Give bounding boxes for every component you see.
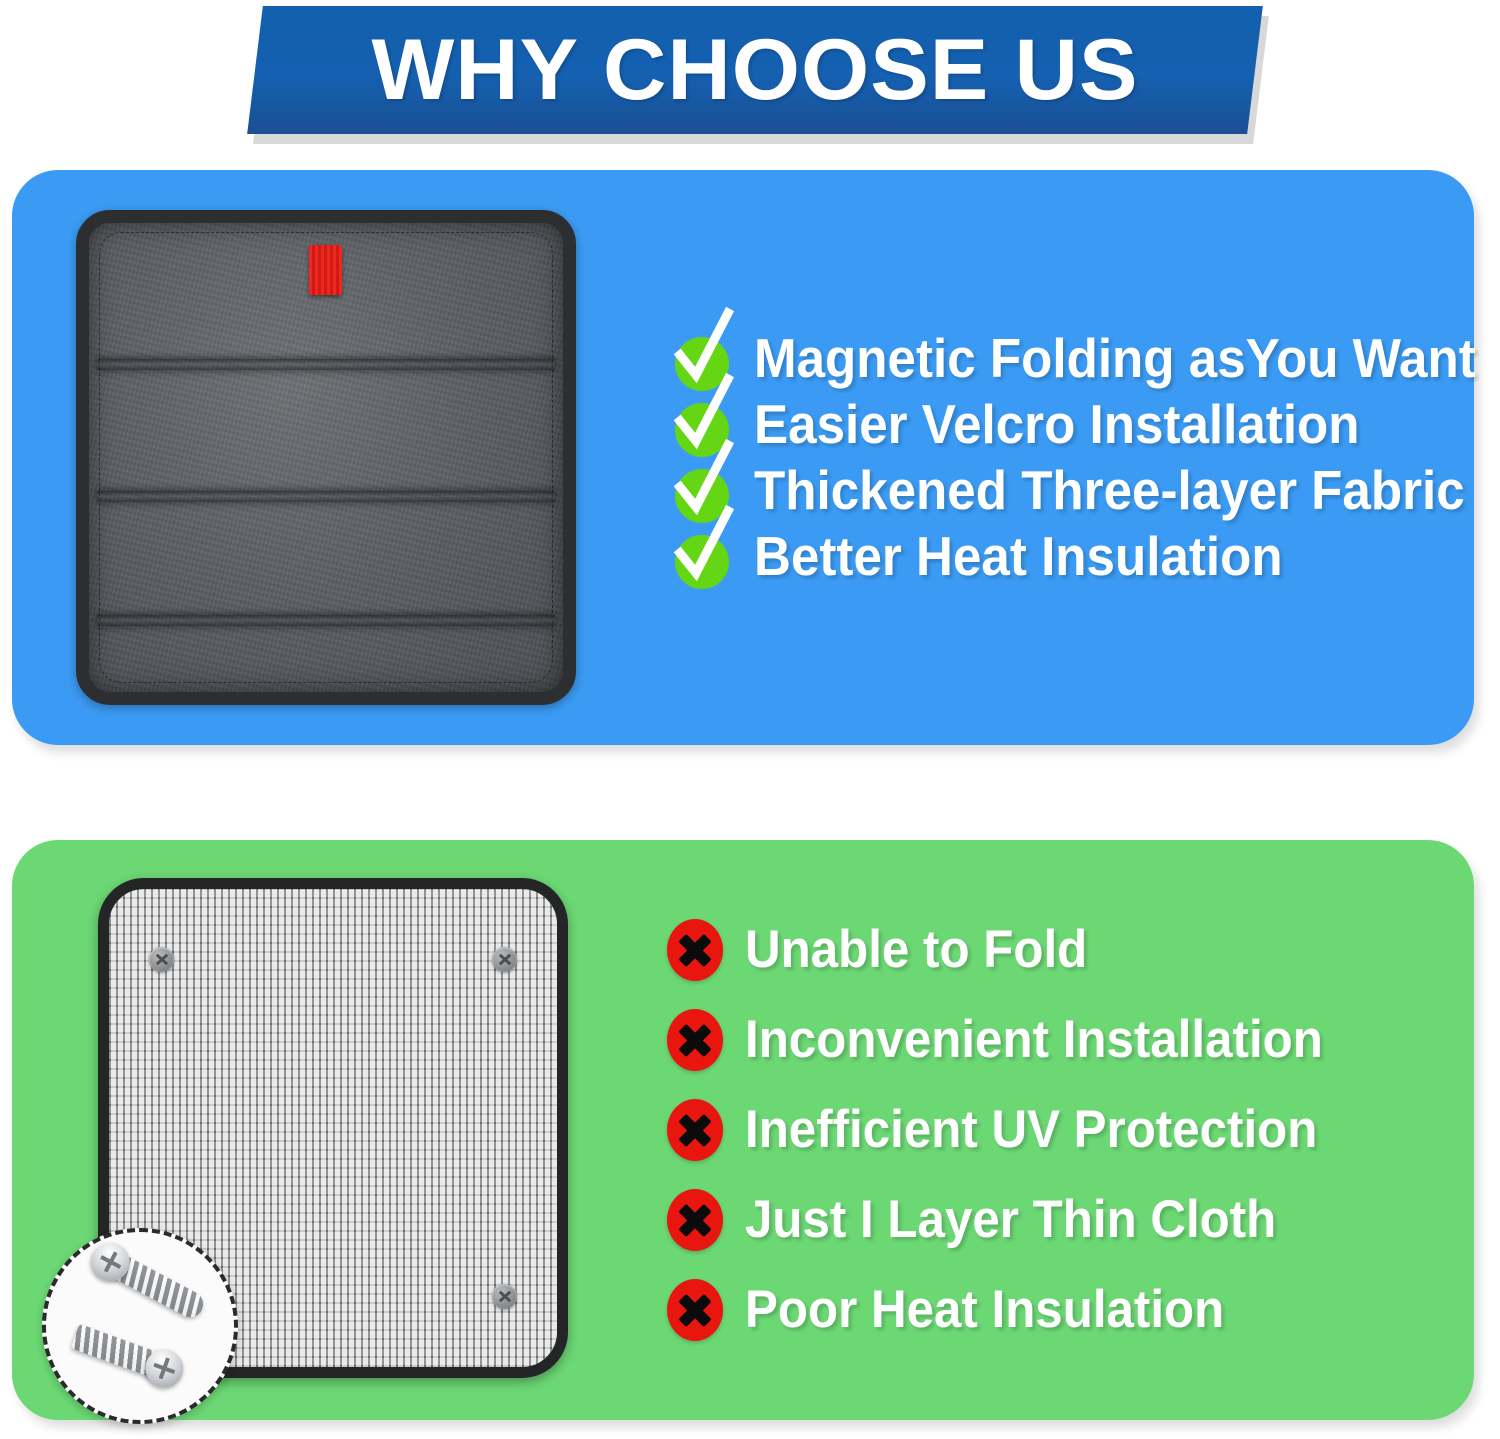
list-item: Unable to Fold (667, 919, 1444, 981)
list-item: Better Heat Insulation (672, 527, 1444, 587)
list-item: Poor Heat Insulation (667, 1279, 1444, 1341)
screw-icon (100, 1248, 208, 1322)
cross-icon (667, 1099, 723, 1161)
list-item-label: Better Heat Insulation (754, 528, 1283, 586)
pad-fold-seam (97, 491, 555, 502)
cons-panel: Unable to Fold Inconvenient Installation… (12, 840, 1474, 1420)
screw-callout (42, 1228, 238, 1424)
page-title: WHY CHOOSE US (245, 6, 1265, 134)
pad-fold-seam (97, 359, 555, 370)
cross-icon (667, 1189, 723, 1251)
red-pull-tab (309, 245, 342, 295)
cross-icon (667, 1009, 723, 1071)
list-item: Thickened Three-layer Fabric (672, 461, 1444, 521)
list-item-label: Inconvenient Installation (745, 1012, 1323, 1068)
pros-panel: Magnetic Folding asYou Want Easier Velcr… (12, 170, 1474, 745)
cross-icon (667, 1279, 723, 1341)
list-item-label: Magnetic Folding asYou Want (754, 330, 1476, 388)
cross-icon (667, 919, 723, 981)
screw-icon (149, 947, 174, 972)
list-item-label: Thickened Three-layer Fabric (754, 462, 1465, 520)
pros-feature-list: Magnetic Folding asYou Want Easier Velcr… (672, 170, 1444, 745)
header-banner: WHY CHOOSE US (255, 6, 1255, 134)
our-product-image (76, 210, 576, 705)
pad-fold-seam (97, 615, 555, 626)
check-icon (672, 527, 732, 587)
list-item-label: Easier Velcro Installation (754, 396, 1360, 454)
list-item: Easier Velcro Installation (672, 395, 1444, 455)
list-item-label: Just I Layer Thin Cloth (745, 1192, 1276, 1248)
list-item: Just I Layer Thin Cloth (667, 1189, 1444, 1251)
list-item-label: Unable to Fold (745, 922, 1087, 978)
screw-icon (71, 1324, 174, 1383)
screw-icon (492, 1284, 517, 1309)
cons-feature-list: Unable to Fold Inconvenient Installation… (667, 840, 1444, 1420)
list-item: Inefficient UV Protection (667, 1099, 1444, 1161)
screw-icon (492, 947, 517, 972)
list-item: Inconvenient Installation (667, 1009, 1444, 1071)
list-item: Magnetic Folding asYou Want (672, 329, 1444, 389)
sunshade-pad (76, 210, 576, 705)
list-item-label: Poor Heat Insulation (745, 1282, 1224, 1338)
list-item-label: Inefficient UV Protection (745, 1102, 1317, 1158)
